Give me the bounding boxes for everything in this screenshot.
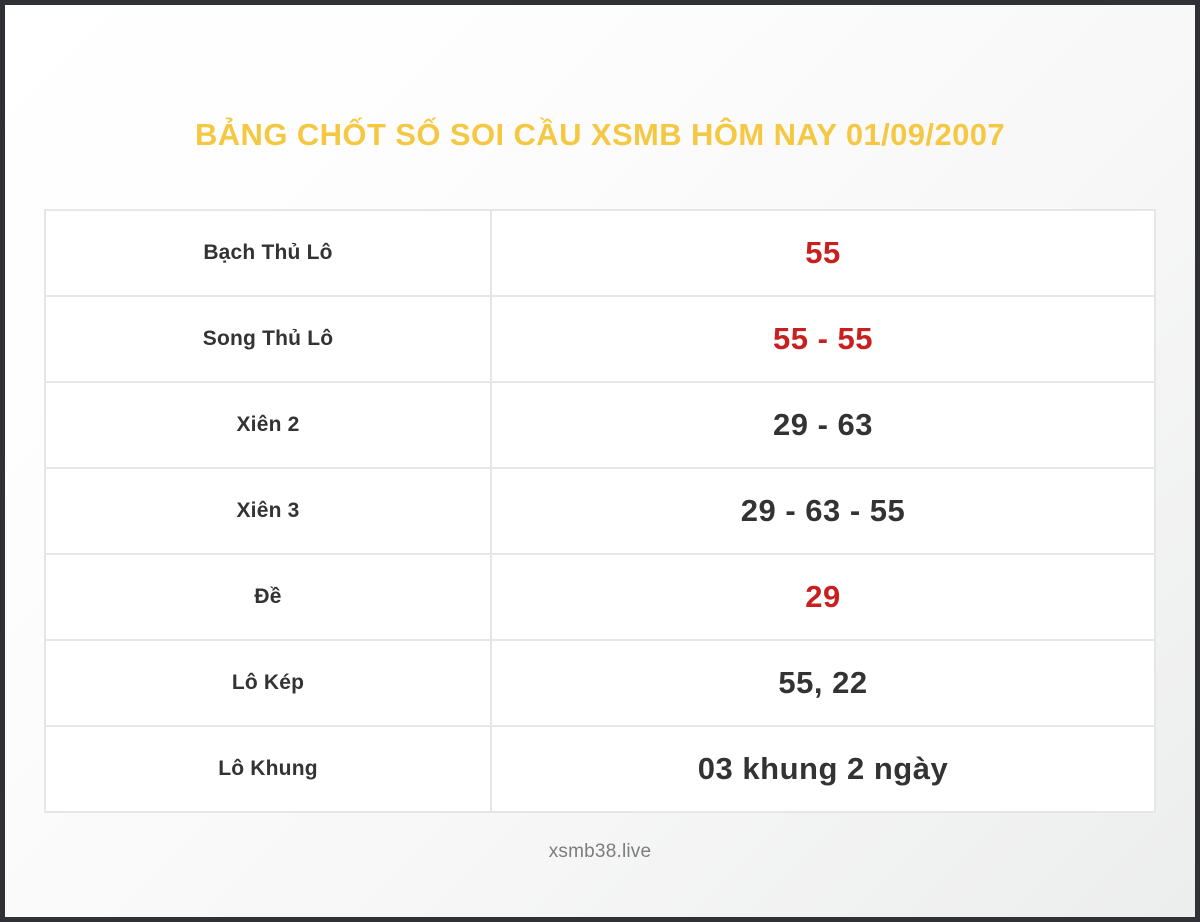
table-row: Bạch Thủ Lô55 xyxy=(45,210,1155,296)
row-label: Bạch Thủ Lô xyxy=(45,210,491,296)
prediction-table: Bạch Thủ Lô55Song Thủ Lô55 - 55Xiên 229 … xyxy=(44,209,1156,813)
row-label: Xiên 3 xyxy=(45,468,491,554)
table-row: Xiên 329 - 63 - 55 xyxy=(45,468,1155,554)
row-label: Lô Khung xyxy=(45,726,491,812)
row-value: 29 xyxy=(491,554,1155,640)
page-title: BẢNG CHỐT SỐ SOI CẦU XSMB HÔM NAY 01/09/… xyxy=(195,118,1005,152)
row-value: 29 - 63 xyxy=(491,382,1155,468)
table-row: Song Thủ Lô55 - 55 xyxy=(45,296,1155,382)
row-value: 55, 22 xyxy=(491,640,1155,726)
table-row: Đề29 xyxy=(45,554,1155,640)
footer: xsmb38.live xyxy=(5,841,1195,863)
row-value: 55 - 55 xyxy=(491,296,1155,382)
site-watermark: xsmb38.live xyxy=(549,841,652,862)
title-container: BẢNG CHỐT SỐ SOI CẦU XSMB HÔM NAY 01/09/… xyxy=(5,5,1195,173)
prediction-table-container: Bạch Thủ Lô55Song Thủ Lô55 - 55Xiên 229 … xyxy=(44,209,1156,813)
table-row: Lô Khung03 khung 2 ngày xyxy=(45,726,1155,812)
row-label: Song Thủ Lô xyxy=(45,296,491,382)
row-label: Lô Kép xyxy=(45,640,491,726)
page-root: BẢNG CHỐT SỐ SOI CẦU XSMB HÔM NAY 01/09/… xyxy=(5,5,1195,917)
row-label: Xiên 2 xyxy=(45,382,491,468)
table-row: Lô Kép55, 22 xyxy=(45,640,1155,726)
row-value: 29 - 63 - 55 xyxy=(491,468,1155,554)
table-row: Xiên 229 - 63 xyxy=(45,382,1155,468)
row-value: 03 khung 2 ngày xyxy=(491,726,1155,812)
row-label: Đề xyxy=(45,554,491,640)
row-value: 55 xyxy=(491,210,1155,296)
prediction-table-body: Bạch Thủ Lô55Song Thủ Lô55 - 55Xiên 229 … xyxy=(45,210,1155,812)
